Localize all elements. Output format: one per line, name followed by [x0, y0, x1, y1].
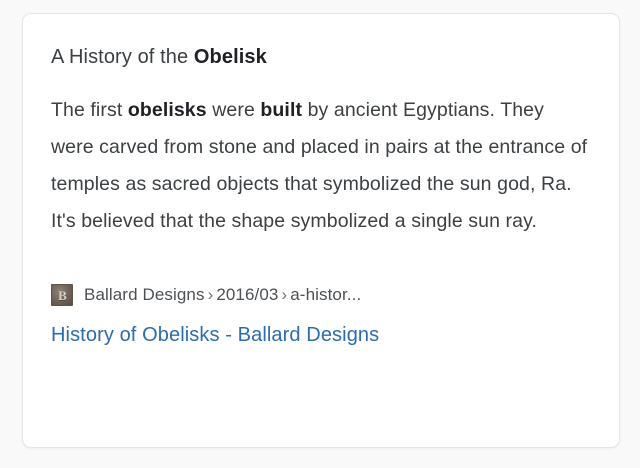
source-block: B Ballard Designs›2016/03›a-histor... Hi…: [51, 284, 591, 348]
snippet-title-highlight: Obelisk: [194, 46, 267, 68]
breadcrumb-segment-2: a-histor...: [290, 285, 361, 304]
site-favicon-icon: B: [51, 284, 73, 306]
snippet-body-seg-2: were: [207, 99, 261, 121]
snippet-body-highlight-1: obelisks: [128, 99, 207, 121]
chevron-right-icon-1: ›: [205, 285, 217, 304]
source-attribution-row[interactable]: B Ballard Designs›2016/03›a-histor...: [51, 284, 591, 306]
snippet-title-text: A History of the: [51, 46, 194, 68]
chevron-right-icon-2: ›: [278, 285, 290, 304]
favicon-monogram: B: [52, 285, 72, 305]
breadcrumb-site-name: Ballard Designs: [84, 285, 205, 304]
page-background: A History of the Obelisk The first obeli…: [0, 0, 640, 468]
snippet-body-seg-1: The first: [51, 99, 128, 121]
result-title-link[interactable]: History of Obelisks - Ballard Designs: [51, 322, 591, 348]
snippet-body-highlight-2: built: [260, 99, 302, 121]
snippet-body: The first obelisks were built by ancient…: [51, 92, 591, 240]
featured-snippet-card: A History of the Obelisk The first obeli…: [22, 13, 620, 448]
card-content: A History of the Obelisk The first obeli…: [23, 14, 619, 370]
snippet-title: A History of the Obelisk: [51, 44, 591, 70]
breadcrumb: Ballard Designs›2016/03›a-histor...: [84, 284, 361, 306]
breadcrumb-segment-1: 2016/03: [216, 285, 278, 304]
